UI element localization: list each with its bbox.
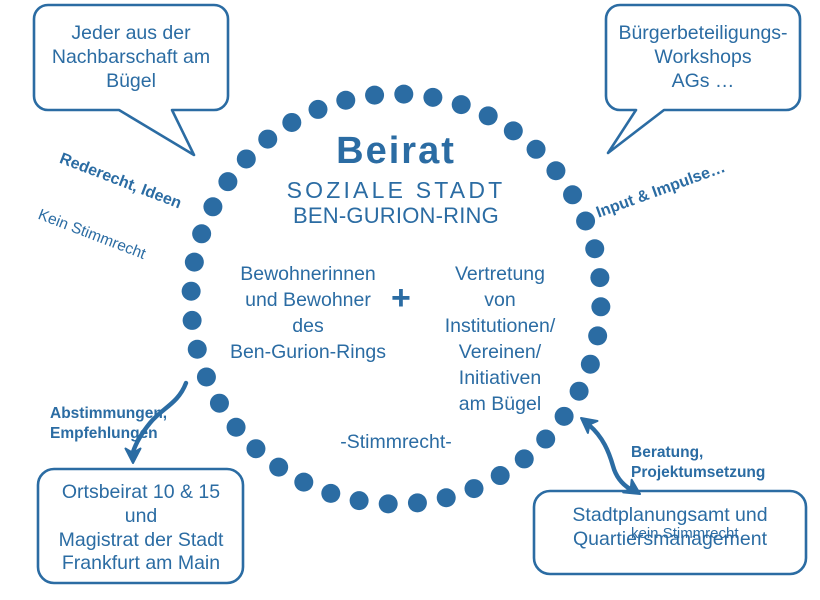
flow-label-abstimmungen: Abstimmungen, Empfehlungen (50, 362, 167, 485)
voting-right-note: -Stimmrecht- (296, 431, 496, 455)
plus-icon: + (391, 281, 411, 315)
box-stadtplanungsamt-text: Stadtplanungsamt und Quartiersmanagement (540, 504, 800, 552)
members-residents-column: Bewohnerinnen und Bewohner des Ben-Gurio… (220, 262, 396, 366)
page-title: Beirat (246, 128, 546, 174)
flow-label-beratung-bold: Beratung, Projektumsetzung (631, 443, 765, 483)
flow-label-beratung: Beratung, Projektumsetzung kein Stimmrec… (631, 401, 765, 586)
flow-label-rederecht-normal: Kein Stimmrecht (35, 205, 162, 269)
diagram-canvas: Jeder aus der Nachbarschaft am Bügel Bür… (0, 0, 820, 600)
page-subtitle-2: BEN-GURION-RING (246, 203, 546, 230)
box-ortsbeirat-text: Ortsbeirat 10 & 15 und Magistrat der Sta… (44, 481, 238, 576)
flow-label-input-bold: Input & Impulse… (594, 158, 729, 223)
members-institutions-column: Vertretung von Institutionen/ Vereinen/ … (424, 262, 576, 418)
page-subtitle-1: SOZIALE STADT (246, 176, 546, 204)
flow-label-rederecht-bold: Rederecht, Ideen (56, 149, 184, 214)
flow-label-abstimmungen-bold: Abstimmungen, Empfehlungen (50, 404, 167, 444)
bubble-neighbourhood-text: Jeder aus der Nachbarschaft am Bügel (38, 22, 224, 93)
bubble-participation-text: Bürgerbeteiligungs- Workshops AGs … (610, 22, 796, 93)
